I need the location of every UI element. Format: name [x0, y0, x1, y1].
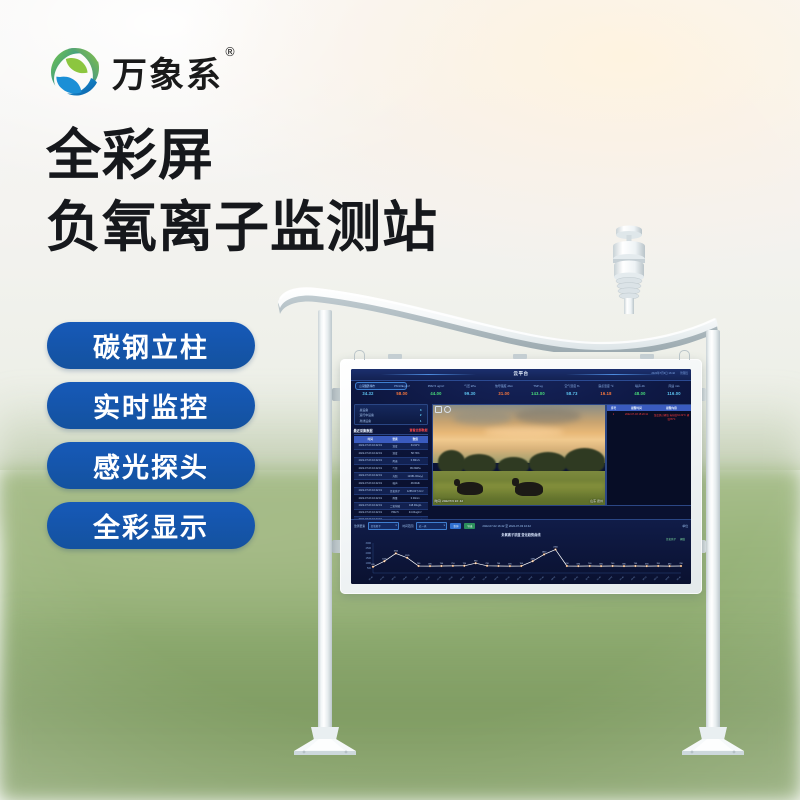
table-row: 2022-07-03 16:42:19温度34.32℃ [354, 443, 428, 450]
metric-value: 31.00 [487, 391, 521, 396]
alarm-row-0: 1 2022-07-03 15:20:11 温度超过阈值 当前值34.32℃ 阈… [607, 411, 691, 422]
cell-time: 2022-07-03 16:42:19 [354, 502, 388, 510]
x-tick-label: 03:42 [494, 576, 500, 581]
chart-point-label: 720 [485, 563, 489, 565]
chart-unit-label: 单位 [682, 524, 688, 528]
base-plate-left [286, 727, 364, 757]
chart-data-point [429, 565, 431, 567]
chart-point-label: 1960 [394, 551, 399, 553]
x-tick-label: 11:42 [585, 576, 591, 581]
metric-label: PM2.5 ug/m³ [419, 385, 453, 389]
chart-point-label: 980 [474, 560, 478, 562]
alarm-header-row: 序号 报警时间 报警内容 [607, 405, 691, 412]
filter-select-range-value: 近一天 [419, 524, 427, 528]
metric-strip: 温度 ℃ 34.32 PM10 ug/m³ 58.00 PM2.5 ug/m³ … [351, 381, 691, 401]
cell-item: 雨量 [387, 495, 403, 503]
trend-line-chart: 负氧离子 阈值 5001000150020002500300062016:421… [355, 538, 687, 584]
metric-label: 风速 m/s [657, 385, 691, 389]
x-tick-label: 13:42 [608, 576, 614, 581]
filter-select-element[interactable]: 负氧离子 ▾ [368, 522, 399, 530]
chart-data-point [635, 565, 637, 567]
chart-point-label: 700 [497, 563, 501, 565]
header-datetime: 2022年7月3日 16:42 [651, 371, 675, 375]
filter-select-element-value: 负氧离子 [371, 524, 381, 528]
video-control-icons[interactable] [435, 406, 452, 413]
x-tick-label: 07:42 [540, 576, 546, 581]
table-row: 2022-07-03 16:42:19噪声48.00db [354, 480, 428, 488]
metric-value: 48.00 [623, 391, 657, 396]
cell-value: 1285.00个/cm³ [403, 487, 428, 495]
display-cabinet: 云平台 2022年7月3日 16:42 管理员 山东省济南市 ▾ 温度 ℃ 34… [340, 359, 702, 594]
chart-point-label: 690 [645, 563, 649, 565]
chart-title: 负氧离子浓度 变化趋势曲线 [351, 532, 691, 537]
video-cloud-1 [453, 411, 512, 425]
cell-item: 负氧离子 [387, 487, 403, 495]
x-tick-label: 16:12 [642, 576, 648, 581]
chart-data-point [463, 565, 465, 567]
cell-value: 58.73% [403, 450, 428, 458]
chart-point-label: 690 [599, 563, 603, 565]
metric-8: 噪声 db 48.00 [623, 381, 657, 401]
video-watermark: 山东 德州 [590, 499, 603, 503]
chart-point-label: 700 [634, 563, 638, 565]
metric-label: 噪声 db [623, 385, 657, 389]
metric-5: TSP ug 143.00 [521, 381, 555, 401]
x-tick-label: 16:42 [369, 576, 375, 581]
x-tick-label: 06:42 [528, 576, 534, 581]
chart-data-point [452, 565, 454, 567]
stat-value: 1 [420, 419, 422, 425]
chart-point-label: 720 [463, 563, 467, 565]
full-color-led-screen: 云平台 2022年7月3日 16:42 管理员 山东省济南市 ▾ 温度 ℃ 34… [351, 369, 691, 584]
filter-label-range: 时间范围 [402, 524, 413, 528]
header-user: 管理员 [680, 371, 688, 375]
cell-time: 2022-07-03 16:42:19 [354, 472, 388, 480]
chart-data-point [600, 565, 602, 567]
x-tick-label: 16:42 [677, 576, 683, 581]
ultrasonic-weather-sensor [600, 222, 658, 314]
chart-canvas: 5001000150020002500300062016:42118017:42… [355, 538, 687, 584]
header-deco-right [566, 374, 661, 375]
cell-item: 噪声 [387, 480, 403, 488]
carbon-steel-post-right [706, 330, 720, 740]
x-tick-label: 02:42 [483, 576, 489, 581]
x-tick-label: 08:42 [551, 576, 557, 581]
chart-data-point [680, 565, 682, 567]
chart-data-point [372, 566, 374, 568]
y-tick-label: 2000 [366, 552, 372, 555]
y-tick-label: 3000 [366, 542, 372, 545]
table-row: 2022-07-03 16:42:19二氧化碳418.00ug/L [354, 502, 428, 510]
video-cattle-1 [457, 482, 483, 495]
chart-data-point [555, 549, 557, 551]
x-tick-label: 12:42 [597, 576, 603, 581]
cell-value: 48.00db [403, 480, 428, 488]
chart-point-label: 690 [622, 563, 626, 565]
chart-data-point [543, 554, 545, 556]
chart-filter-bar: 监测要素 负氧离子 ▾ 时间范围 近一天 ▾ 查询 导出 [351, 520, 691, 532]
x-tick-label: 16:32 [665, 576, 671, 581]
data-panel-title: 最近采集数据 [354, 428, 373, 433]
chart-legend: 负氧离子 阈值 [666, 537, 685, 541]
export-button[interactable]: 导出 [464, 523, 475, 529]
chart-data-point [395, 553, 397, 555]
table-row: 2022-07-03 16:42:19湿度58.73% [354, 450, 428, 458]
cell-time: 2022-07-03 16:42:19 [354, 495, 388, 503]
cell-time: 2022-07-03 16:42:19 [354, 487, 388, 495]
cell-value: 0.00mm [403, 495, 428, 503]
live-camera-feed[interactable]: 时间: 2022/7/3 16: 42 山东 德州 [432, 404, 607, 506]
table-row: 2022-07-03 16:42:19风速0.38m/s [354, 457, 428, 465]
x-tick-label: 04:42 [506, 576, 512, 581]
chart-point-label: 700 [565, 563, 569, 565]
table-row: 2022-07-03 16:42:19雨量0.00mm [354, 495, 428, 503]
video-timestamp: 时间: 2022/7/3 16: 42 [435, 499, 464, 503]
cell-value: 418.00ug/L [403, 502, 428, 510]
cell-value: 0.38m/s [403, 457, 428, 465]
cell-item: 气压 [387, 465, 403, 473]
filter-label-element: 监测要素 [354, 524, 365, 528]
alarm-time: 2022-07-03 15:20:11 [621, 411, 653, 422]
chart-point-label: 690 [508, 563, 512, 565]
alarm-content: 温度超过阈值 当前值34.32℃ 阈值35℃ [653, 411, 691, 422]
chart-data-point [612, 565, 614, 567]
legend-item-1: 阈值 [680, 537, 685, 541]
mount-lug-center [513, 354, 527, 359]
cell-time: 2022-07-03 16:42:19 [354, 450, 388, 458]
x-tick-label: 19:42 [403, 576, 409, 581]
cell-item: 温度 [387, 443, 403, 450]
x-tick-label: 22:42 [437, 576, 443, 581]
table-header-row: 时间 要素 数值 [354, 436, 428, 443]
x-tick-label: 15:42 [631, 576, 637, 581]
cell-item: 风速 [387, 457, 403, 465]
x-tick-label: 20:42 [414, 576, 420, 581]
cloud-platform-dashboard: 云平台 2022年7月3日 16:42 管理员 山东省济南市 ▾ 温度 ℃ 34… [351, 369, 691, 584]
chevron-down-icon: ▾ [395, 524, 396, 527]
cell-item: 光照 [387, 472, 403, 480]
alarm-col-content: 报警内容 [653, 405, 691, 412]
cell-time: 2022-07-03 16:42:19 [354, 465, 388, 473]
chart-point-label: 700 [611, 563, 615, 565]
metric-3: 气压 kPa 99.30 [453, 381, 487, 401]
chart-data-point [441, 565, 443, 567]
metric-label: TSP ug [521, 385, 555, 389]
chart-data-point [475, 562, 477, 564]
x-tick-label: 17:42 [380, 576, 386, 581]
chart-point-label: 690 [668, 563, 672, 565]
data-panel-header: 最近采集数据 查看全部数据 [354, 428, 428, 435]
chart-point-label: 710 [451, 563, 455, 565]
chart-data-point [509, 565, 511, 567]
chart-data-point [657, 565, 659, 567]
metric-value: 143.00 [521, 391, 555, 396]
metric-value: 58.00 [385, 391, 419, 396]
table-row: 2022-07-03 16:42:19光照12381.00w/㎡ [354, 472, 428, 480]
chart-point-label: 700 [588, 563, 592, 565]
metric-4: 信号强度 dbm 31.00 [487, 381, 521, 401]
query-button[interactable]: 查询 [450, 523, 461, 529]
chart-data-point [498, 565, 500, 567]
chart-data-point [577, 565, 579, 567]
mount-lug-left [388, 354, 402, 359]
metric-value: 16.18 [589, 391, 623, 396]
video-cattle-2 [515, 482, 543, 496]
device-stats-box: 总设备 3 运行中设备 2 离线设备 1 [354, 404, 428, 425]
cell-value: 12381.00w/㎡ [403, 472, 428, 480]
dashboard-title: 云平台 [513, 371, 528, 377]
y-tick-label: 1500 [366, 557, 372, 560]
metric-6: 空气湿度 % 58.73 [555, 381, 589, 401]
video-cloud-3 [484, 427, 563, 437]
metric-0: 温度 ℃ 34.32 [351, 381, 385, 401]
metric-label: PM10 ug/m³ [385, 385, 419, 389]
metric-value: 34.32 [351, 391, 385, 396]
mount-hook-left [354, 350, 365, 360]
metric-2: PM2.5 ug/m³ 44.00 [419, 381, 453, 401]
metric-7: 露点温度 ℃ 16.18 [589, 381, 623, 401]
chart-data-point [566, 565, 568, 567]
chart-point-label: 690 [428, 563, 432, 565]
trend-chart-section: 监测要素 负氧离子 ▾ 时间范围 近一天 ▾ 查询 导出 [351, 519, 691, 584]
chart-data-point [384, 560, 386, 562]
x-tick-label: 18:42 [391, 576, 397, 581]
x-tick-label: 01:42 [471, 576, 477, 581]
x-tick-label: 00:42 [460, 576, 466, 581]
metric-value: 99.30 [453, 391, 487, 396]
alarm-index: 1 [607, 411, 621, 422]
chart-data-point [623, 565, 625, 567]
chart-point-label: 700 [679, 563, 683, 565]
legend-item-0: 负氧离子 [666, 537, 676, 541]
cell-time: 2022-07-03 16:42:19 [354, 443, 388, 450]
chart-point-label: 1520 [405, 555, 410, 557]
chart-data-point [486, 565, 488, 567]
mount-lug-right [640, 354, 654, 359]
metric-label: 温度 ℃ [351, 385, 385, 389]
chart-point-label: 700 [440, 563, 444, 565]
metric-9: 风速 m/s 116.00 [657, 381, 691, 401]
metric-value: 116.00 [657, 391, 691, 396]
metric-label: 空气湿度 % [555, 385, 589, 389]
chart-point-label: 690 [577, 563, 581, 565]
carbon-steel-post-left [318, 310, 332, 740]
fullscreen-icon[interactable] [435, 406, 442, 413]
metric-value: 58.73 [555, 391, 589, 396]
col-item: 要素 [387, 436, 403, 443]
chart-data-point [646, 565, 648, 567]
mount-hook-right [679, 350, 690, 360]
chart-point-label: 700 [657, 563, 661, 565]
chart-data-point [520, 565, 522, 567]
video-cloud-2 [515, 408, 581, 424]
stat-row-2: 离线设备 1 [360, 419, 422, 425]
y-tick-label: 2500 [366, 547, 372, 550]
col-value: 数值 [403, 436, 428, 443]
view-all-data-link[interactable]: 查看全部数据 [409, 428, 427, 432]
cell-time: 2022-07-03 16:42:19 [354, 480, 388, 488]
header-deco-left [381, 374, 476, 375]
base-plate-right [674, 727, 752, 757]
monitoring-station-product: 云平台 2022年7月3日 16:42 管理员 山东省济南市 ▾ 温度 ℃ 34… [0, 0, 800, 800]
chart-data-point [532, 560, 534, 562]
metric-label: 气压 kPa [453, 385, 487, 389]
chart-point-label: 700 [417, 563, 421, 565]
metric-label: 露点温度 ℃ [589, 385, 623, 389]
table-row: 2022-07-03 16:42:19气压99.30kPa [354, 465, 428, 473]
cell-value: 99.30kPa [403, 465, 428, 473]
chart-data-point [589, 565, 591, 567]
product-marketing-image: 万象系 ® 全彩屏 负氧离子监测站 碳钢立柱 实时监控 感光探头 全彩显示 [0, 0, 800, 800]
cell-item: 二氧化碳 [387, 502, 403, 510]
x-tick-label: 23:42 [449, 576, 455, 581]
x-tick-label: 21:42 [426, 576, 432, 581]
chart-data-point [669, 565, 671, 567]
x-tick-label: 16:22 [654, 576, 660, 581]
chart-point-label: 2350 [553, 547, 558, 549]
snapshot-icon[interactable] [444, 406, 451, 413]
x-tick-label: 10:42 [574, 576, 580, 581]
cell-value: 34.32℃ [403, 443, 428, 450]
cell-item: 湿度 [387, 450, 403, 458]
filter-select-range[interactable]: 近一天 ▾ [416, 522, 447, 530]
col-time: 时间 [354, 436, 388, 443]
metric-value: 44.00 [419, 391, 453, 396]
x-tick-label: 05:42 [517, 576, 523, 581]
table-row: 2022-07-03 16:42:19负氧离子1285.00个/cm³ [354, 487, 428, 495]
stat-label: 离线设备 [360, 419, 372, 425]
y-tick-label: 500 [367, 567, 372, 570]
alarm-panel: 序号 报警时间 报警内容 1 2022-07-03 15:20:11 温度超过阈… [606, 404, 692, 506]
x-tick-label: 09:42 [563, 576, 569, 581]
chart-range-text: 2022-07-02 16:42 至 2022-07-03 16:42 [482, 524, 531, 528]
metric-1: PM10 ug/m³ 58.00 [385, 381, 419, 401]
cell-time: 2022-07-03 16:42:19 [354, 457, 388, 465]
metric-label: 信号强度 dbm [487, 385, 521, 389]
alarm-col-index: 序号 [607, 405, 621, 412]
chart-data-point [418, 565, 420, 567]
chart-data-point [406, 557, 408, 559]
x-tick-label: 14:42 [620, 576, 626, 581]
chevron-down-icon: ▾ [444, 524, 445, 527]
alarm-col-time: 报警时间 [621, 405, 653, 412]
